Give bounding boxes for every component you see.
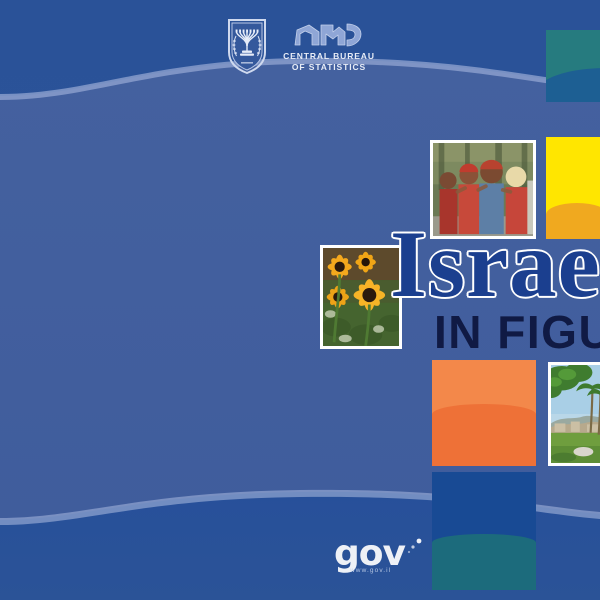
cbs-hebrew-monogram-icon — [293, 21, 365, 51]
israel-state-emblem-menorah-icon — [225, 18, 269, 74]
tile-orange-block — [432, 360, 536, 466]
cbs-label-line1: CENTRAL BUREAU — [283, 51, 375, 62]
bottom-block-teal-band — [432, 534, 536, 590]
gov-url-label: www.gov.il — [350, 567, 424, 574]
header-logo-bar: CENTRAL BUREAU OF STATISTICS — [0, 18, 600, 74]
yellow-block-amber-band — [546, 203, 600, 239]
children-photo-image — [433, 143, 533, 236]
sunflowers-photo-tile — [320, 245, 402, 349]
sunflowers-photo-image — [323, 248, 399, 346]
tile-bottom-blue-block — [432, 472, 536, 590]
orange-block-dark-band — [432, 404, 536, 466]
central-bureau-of-statistics-logo: CENTRAL BUREAU OF STATISTICS — [283, 18, 375, 73]
gov-il-logo: gov www.gov.il — [334, 536, 424, 584]
landscape-photo-image — [551, 365, 600, 463]
gov-logo-dots-icon — [406, 538, 424, 556]
cbs-label-line2: OF STATISTICS — [292, 62, 366, 73]
tile-yellow-block — [546, 137, 600, 239]
publication-cover: CENTRAL BUREAU OF STATISTICS — [0, 0, 600, 600]
children-photo-tile — [430, 140, 536, 239]
landscape-photo-tile — [548, 362, 600, 466]
